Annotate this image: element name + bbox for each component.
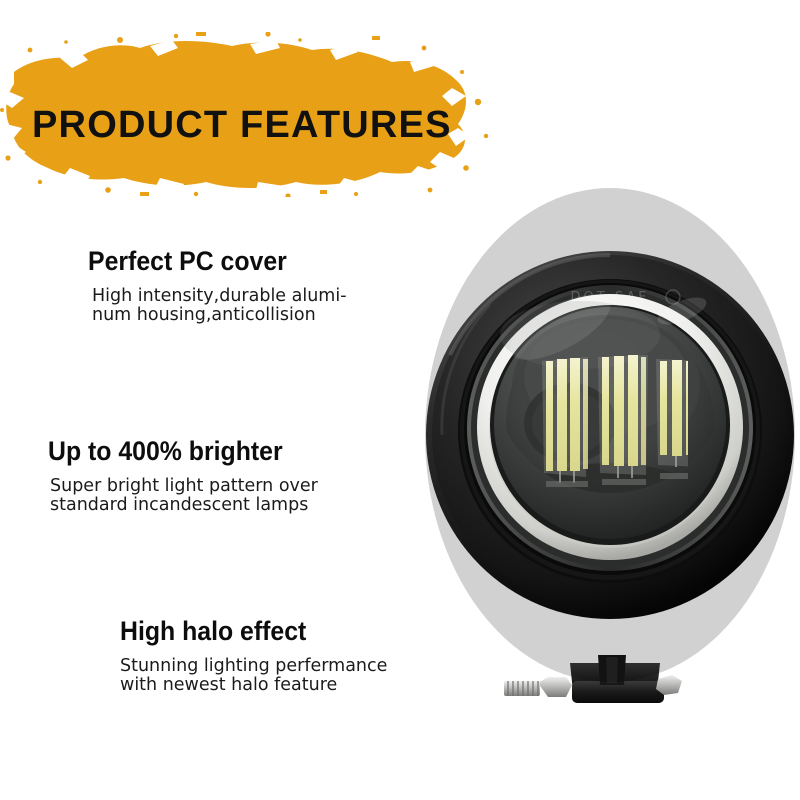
page-title: PRODUCT FEATURES bbox=[32, 104, 452, 147]
product-image-led-headlight: DOT SAE bbox=[420, 185, 800, 733]
feature-title: Perfect PC cover bbox=[88, 246, 326, 277]
feature-block-halo: High halo effect Stunning lighting perfe… bbox=[120, 616, 387, 695]
headlight-illustration: DOT SAE bbox=[420, 185, 800, 733]
feature-description: Super bright light pattern over standard… bbox=[50, 477, 318, 515]
led-cluster bbox=[542, 357, 588, 487]
feature-block-pc-cover: Perfect PC cover High intensity,durable … bbox=[88, 246, 347, 325]
led-cluster bbox=[598, 355, 648, 485]
feature-title: Up to 400% brighter bbox=[48, 436, 296, 467]
feature-description: High intensity,durable alumi- num housin… bbox=[92, 287, 347, 325]
banner: PRODUCT FEATURES bbox=[0, 32, 500, 197]
infographic-canvas: PRODUCT FEATURES Perfect PC cover High i… bbox=[0, 0, 800, 800]
feature-block-brightness: Up to 400% brighter Super bright light p… bbox=[48, 436, 318, 515]
feature-title: High halo effect bbox=[120, 616, 366, 647]
feature-description: Stunning lighting perfermance with newes… bbox=[120, 657, 387, 695]
